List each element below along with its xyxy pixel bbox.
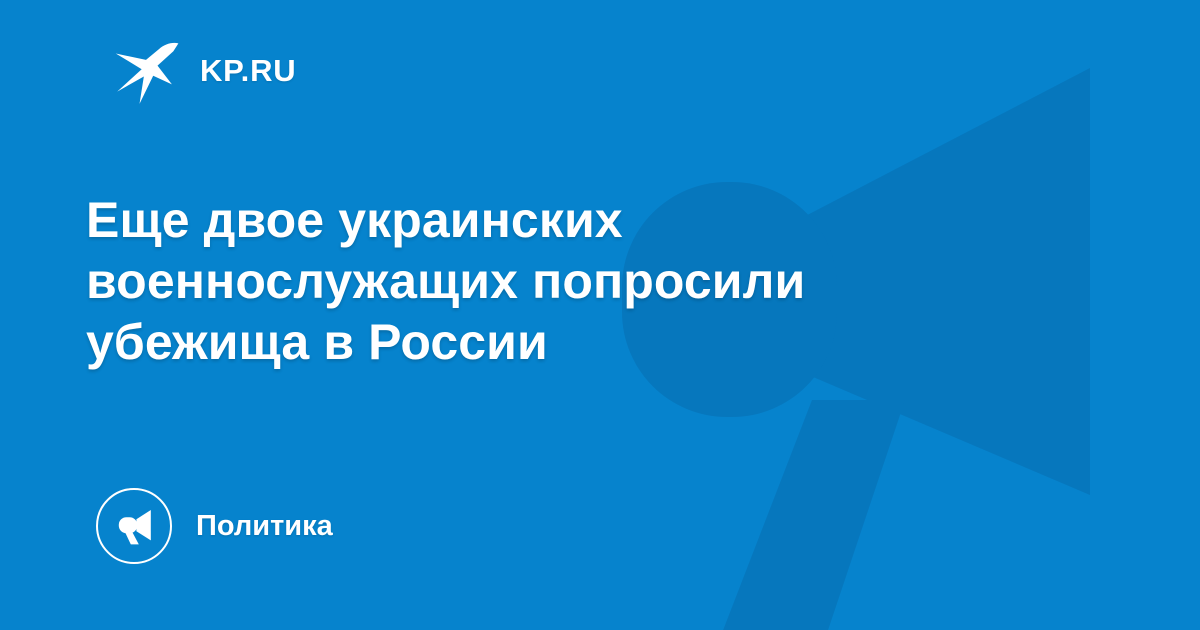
megaphone-icon [114, 506, 154, 546]
category-icon-circle [96, 488, 172, 564]
headline-title: Еще двое украинских военнослужащих попро… [86, 190, 986, 373]
social-share-card: KP.RU Еще двое украинских военнослужащих… [0, 0, 1200, 630]
brand-name: KP.RU [200, 55, 296, 86]
swallow-bird-icon [110, 34, 182, 106]
category-label: Политика [196, 512, 333, 541]
brand-logo[interactable]: KP.RU [110, 34, 296, 106]
category-badge[interactable]: Политика [96, 488, 333, 564]
